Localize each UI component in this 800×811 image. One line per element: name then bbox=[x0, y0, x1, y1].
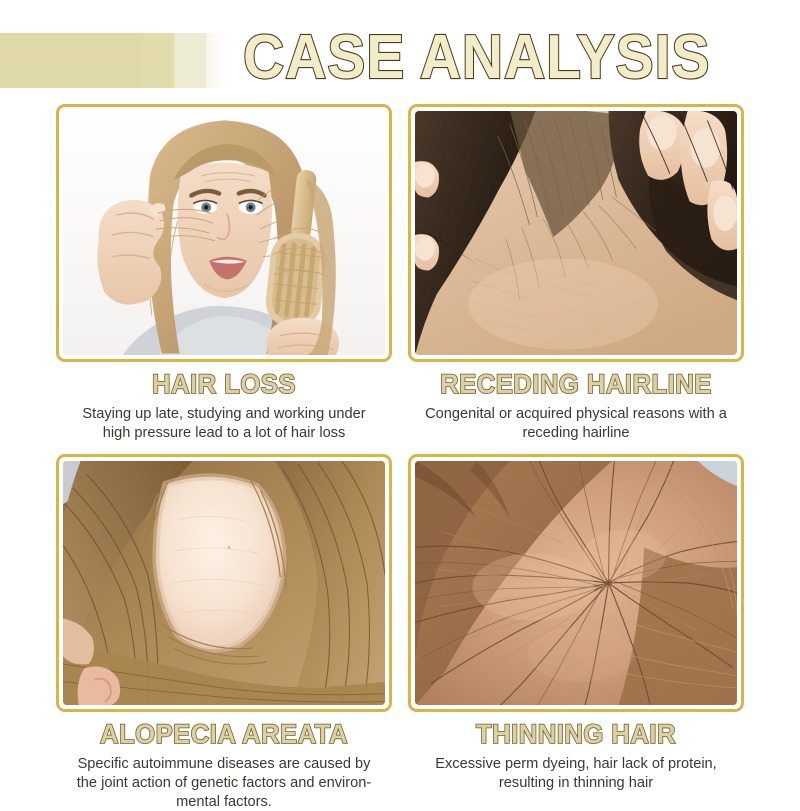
caption-line: Congenital or acquired physical reasons … bbox=[412, 405, 740, 424]
caption-line: high pressure lead to a lot of hair loss bbox=[60, 424, 388, 443]
case-card-grid: HAIR LOSS Staying up late, studying and … bbox=[0, 104, 800, 811]
card-heading-alopecia-areata: ALOPECIA AREATA bbox=[64, 721, 383, 748]
card-heading-thinning-hair: THINNING HAIR bbox=[416, 721, 735, 748]
card-caption-receding-hairline: Congenital or acquired physical reasons … bbox=[408, 405, 744, 442]
photo-frame-receding-hairline bbox=[408, 104, 744, 362]
photo-receding-hairline bbox=[415, 111, 737, 355]
caption-line: Excessive perm dyeing, hair lack of prot… bbox=[412, 755, 740, 774]
card-heading-receding-hairline: RECEDING HAIRLINE bbox=[416, 371, 735, 398]
case-card-alopecia-areata[interactable]: ALOPECIA AREATA Specific autoimmune dise… bbox=[56, 454, 392, 811]
photo-frame-thinning-hair bbox=[408, 454, 744, 712]
caption-line: Specific autoimmune diseases are caused … bbox=[60, 755, 388, 774]
header-banner-bar bbox=[0, 33, 228, 88]
caption-line: Staying up late, studying and working un… bbox=[60, 405, 388, 424]
card-caption-thinning-hair: Excessive perm dyeing, hair lack of prot… bbox=[408, 755, 744, 792]
caption-line: the joint action of genetic factors and … bbox=[60, 774, 388, 793]
caption-line: resulting in thinning hair bbox=[412, 774, 740, 793]
card-caption-hair-loss: Staying up late, studying and working un… bbox=[56, 405, 392, 442]
card-caption-alopecia-areata: Specific autoimmune diseases are caused … bbox=[56, 755, 392, 811]
card-row-2: ALOPECIA AREATA Specific autoimmune dise… bbox=[0, 454, 800, 811]
case-card-thinning-hair[interactable]: THINNING HAIR Excessive perm dyeing, hai… bbox=[408, 454, 744, 811]
card-heading-hair-loss: HAIR LOSS bbox=[64, 371, 383, 398]
card-row-1: HAIR LOSS Staying up late, studying and … bbox=[0, 104, 800, 442]
photo-hair-loss bbox=[63, 111, 385, 355]
photo-frame-hair-loss bbox=[56, 104, 392, 362]
photo-alopecia-areata bbox=[63, 461, 385, 705]
caption-line: receding hairline bbox=[412, 424, 740, 443]
page-title: CASE ANALYSIS bbox=[243, 24, 710, 92]
photo-thinning-hair bbox=[415, 461, 737, 705]
case-card-receding-hairline[interactable]: RECEDING HAIRLINE Congenital or acquired… bbox=[408, 104, 744, 442]
page-header: CASE ANALYSIS bbox=[0, 0, 800, 100]
caption-line: mental factors. bbox=[60, 793, 388, 811]
case-card-hair-loss[interactable]: HAIR LOSS Staying up late, studying and … bbox=[56, 104, 392, 442]
photo-frame-alopecia-areata bbox=[56, 454, 392, 712]
